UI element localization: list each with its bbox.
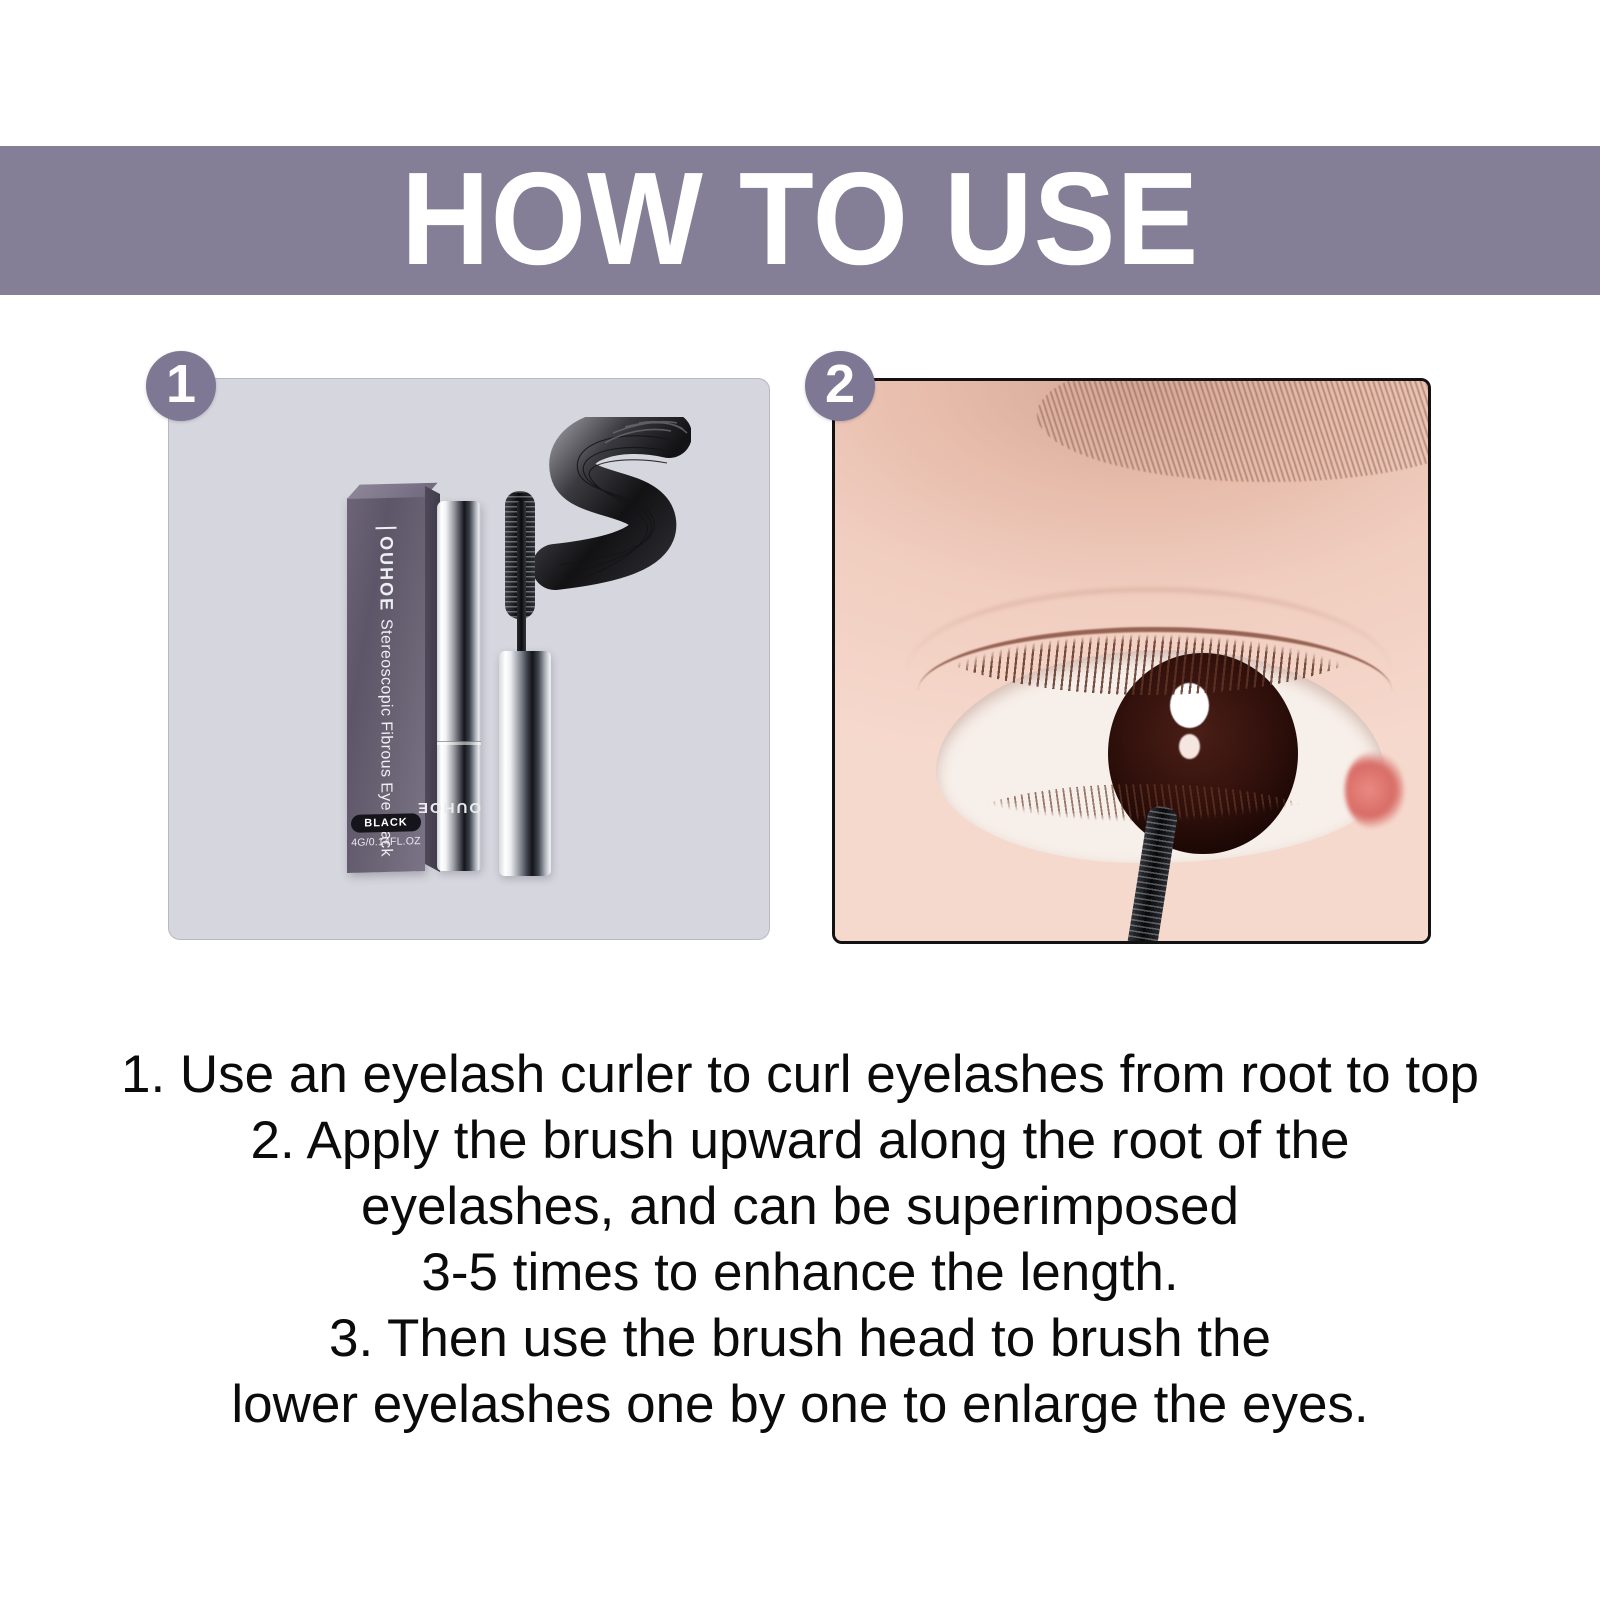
mascara-tube-brand-text: OUHOE xyxy=(437,799,481,816)
instruction-line-6: lower eyelashes one by one to enlarge th… xyxy=(0,1372,1600,1438)
instruction-line-3: eyelashes, and can be superimposed xyxy=(0,1174,1600,1240)
instruction-line-4: 3-5 times to enhance the length. xyxy=(0,1240,1600,1306)
product-box-footer: BLACK 4G/0.14FL.OZ xyxy=(347,812,425,849)
instruction-line-2: 2. Apply the brush upward along the root… xyxy=(0,1108,1600,1174)
product-scene: OUHOE Stereoscopic Fibrous Eye Black BLA… xyxy=(169,379,769,939)
product-box: OUHOE Stereoscopic Fibrous Eye Black BLA… xyxy=(347,496,425,873)
instructions-block: 1. Use an eyelash curler to curl eyelash… xyxy=(0,1042,1600,1438)
step-panel-2[interactable] xyxy=(832,378,1431,944)
page-title: HOW TO USE xyxy=(401,153,1199,285)
eye-application-photo xyxy=(835,381,1428,941)
shade-badge: BLACK xyxy=(351,813,421,833)
product-brand-name: OUHOE xyxy=(376,527,397,613)
product-box-label: OUHOE Stereoscopic Fibrous Eye Black xyxy=(376,527,397,857)
instruction-line-5: 3. Then use the brush head to brush the xyxy=(0,1306,1600,1372)
instruction-line-1: 1. Use an eyelash curler to curl eyelash… xyxy=(0,1042,1600,1108)
tear-duct xyxy=(1345,751,1404,829)
mascara-wand-handle xyxy=(499,651,551,876)
product-size-label: 4G/0.14FL.OZ xyxy=(347,835,425,849)
header-banner: HOW TO USE xyxy=(0,146,1600,295)
step-panel-1[interactable]: OUHOE Stereoscopic Fibrous Eye Black BLA… xyxy=(168,378,770,940)
mascara-wand-stem xyxy=(517,501,526,661)
mascara-tube-cap-seam xyxy=(437,741,481,745)
mascara-swatch-icon xyxy=(521,417,691,622)
upper-eyelashes xyxy=(906,549,1392,695)
